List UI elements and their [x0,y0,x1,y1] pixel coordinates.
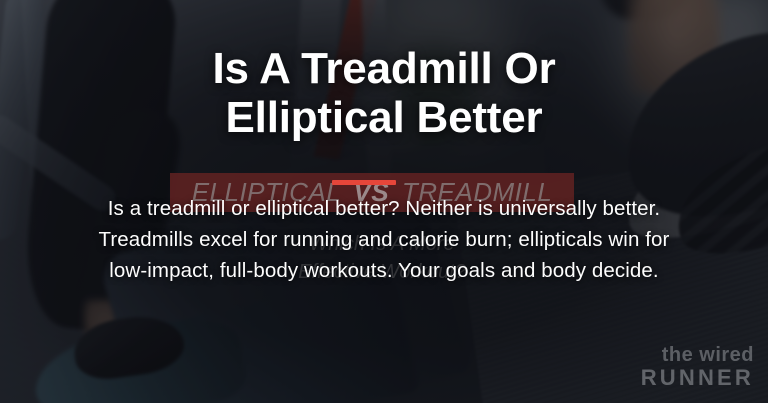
headline-line-1: Is A Treadmill Or [212,44,555,93]
featured-image-canvas: ELLIPTICAL VS TREADMILL Which Is A More … [0,0,768,403]
summary-paragraph: Is a treadmill or elliptical better? Nei… [84,193,684,286]
text-content: Is A Treadmill Or Elliptical Better Is a… [0,0,768,403]
headline-line-2: Elliptical Better [74,93,694,142]
brand-watermark-bottom: RUNNER [641,367,754,389]
page-title: Is A Treadmill Or Elliptical Better [74,44,694,143]
brand-watermark: the wired RUNNER [641,345,754,389]
brand-watermark-top: the wired [641,345,754,365]
